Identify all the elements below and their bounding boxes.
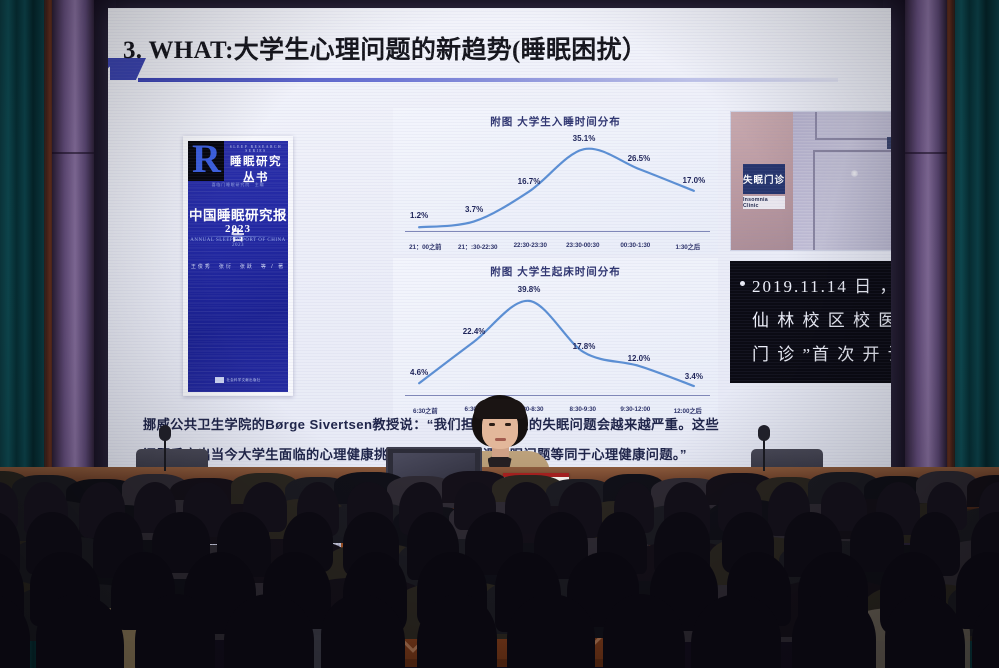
photo-door-panel: [813, 150, 891, 251]
book-series-cn: 睡眠研究丛书: [226, 153, 286, 185]
stage-curtain-right: [953, 0, 999, 668]
speaker-eye-left: [489, 423, 495, 426]
podium-trim: [351, 525, 649, 528]
book-year: 2023: [188, 223, 288, 235]
podium-base: [345, 659, 655, 667]
microphone-stand-right: [763, 437, 765, 471]
chart1-data-label: 3.7%: [465, 205, 483, 214]
book-subtitle-en: ANNUAL SLEEP REPORT OF CHINA 2023: [188, 238, 288, 248]
book-series-en: SLEEP RESEARCH SERIES: [228, 145, 284, 153]
chart1-x-tick-labels: 21：00之前 21：:30-22:30 22:30-23:30 23:30-0…: [399, 242, 714, 251]
chart1-data-label: 16.7%: [518, 177, 541, 186]
chart1-data-label: 26.5%: [628, 154, 651, 163]
microphone-icon-right: [758, 425, 770, 441]
photo-door-transom: [815, 111, 891, 140]
chart2-svg: [405, 282, 708, 394]
chart1-data-label: 1.2%: [410, 211, 428, 220]
chart-sleep-onset: 附图 大学生入睡时间分布 21：00之前 21：:30-22:30 22:30-…: [393, 108, 718, 254]
clinic-sign-cn: 失眠门诊: [743, 164, 785, 194]
presenter-laptop: [386, 447, 482, 487]
chart2-plot-area: [405, 282, 708, 394]
book-authors: 王俊秀 张衍 张跃 等 / 著: [188, 263, 288, 270]
chart2-data-label: 17.8%: [573, 342, 596, 351]
announcement-textbox: 2019.11.14 日 ， 南 京 大 学 仙 林 校 区 校 医 院 “失 …: [730, 261, 891, 383]
chart2-data-label: 12.0%: [628, 354, 651, 363]
insomnia-clinic-photo: 104 失眠门诊 Insomnia Clinic: [730, 111, 891, 251]
laptop-screen: [393, 453, 475, 481]
publisher-logo-icon: [215, 377, 224, 383]
chart1-title: 附图 大学生入睡时间分布: [393, 114, 718, 129]
chart2-data-label: 39.8%: [518, 285, 541, 294]
microphone-stand-left: [164, 437, 166, 471]
speaker-mouth: [495, 438, 506, 441]
stage-area: 范韶维: [116, 495, 883, 668]
chart2-data-label: 3.4%: [685, 372, 703, 381]
stage-curtain-left: [0, 0, 46, 668]
speaker-eye-right: [505, 423, 511, 426]
book-letter-r: R: [192, 141, 221, 179]
book-publisher: 社会科学文献出版社: [188, 377, 288, 383]
podium-top: [333, 493, 667, 507]
chart1-xtick: 00:30-1:30: [609, 242, 662, 251]
chart1-xtick: 21：00之前: [399, 242, 452, 251]
chart1-x-axis: [405, 231, 710, 233]
page-title: 3. WHAT:大学生心理问题的新趋势(睡眠困扰）: [123, 30, 853, 66]
announcement-text: 2019.11.14 日 ， 南 京 大 学 仙 林 校 区 校 医 院 “失 …: [752, 270, 891, 372]
bullet-point-icon: [740, 281, 745, 286]
chart1-data-label: 17.0%: [683, 176, 706, 185]
chart2-data-label: 22.4%: [463, 327, 486, 336]
chart2-title: 附图 大学生起床时间分布: [393, 264, 718, 279]
chart-wakeup-time: 附图 大学生起床时间分布 6:30之前 6:30-7:30 7:30-8:30 …: [393, 258, 718, 418]
book-cover-image: R SLEEP RESEARCH SERIES 睡眠研究丛书 喜临门睡眠研究院 …: [183, 136, 293, 396]
title-underline-rule: [138, 78, 838, 82]
chart1-xtick: 21：:30-22:30: [452, 242, 505, 251]
speaker-fringe: [474, 399, 526, 419]
book-divider: [200, 236, 276, 237]
wall-pillar-right: [905, 0, 947, 668]
chart1-data-label: 35.1%: [573, 134, 596, 143]
room-number-plate: 104: [887, 137, 891, 149]
chart1-xtick: 23:30-00:30: [557, 242, 610, 251]
podium-diamond-right: [519, 517, 655, 653]
chart1-xtick: 22:30-23:30: [504, 242, 557, 251]
chart1-xtick: 1:30之后: [662, 242, 715, 251]
photo-light-glare: [851, 170, 858, 177]
chart2-data-label: 4.6%: [410, 368, 428, 377]
chart1-svg: [405, 132, 708, 230]
clinic-sign-en: Insomnia Clinic: [743, 196, 785, 209]
book-editor: 喜临门睡眠研究院 主编: [188, 182, 288, 188]
wall-pillar-left: [52, 0, 94, 668]
auditorium-venue: 3. WHAT:大学生心理问题的新趋势(睡眠困扰） R SLEEP RESEAR…: [0, 0, 999, 668]
podium-diamond-left: [345, 517, 481, 653]
microphone-icon-left: [159, 425, 171, 441]
speaker-nameplate: 范韶维: [503, 473, 569, 495]
wooden-podium: [341, 493, 659, 661]
chart1-plot-area: [405, 132, 708, 230]
